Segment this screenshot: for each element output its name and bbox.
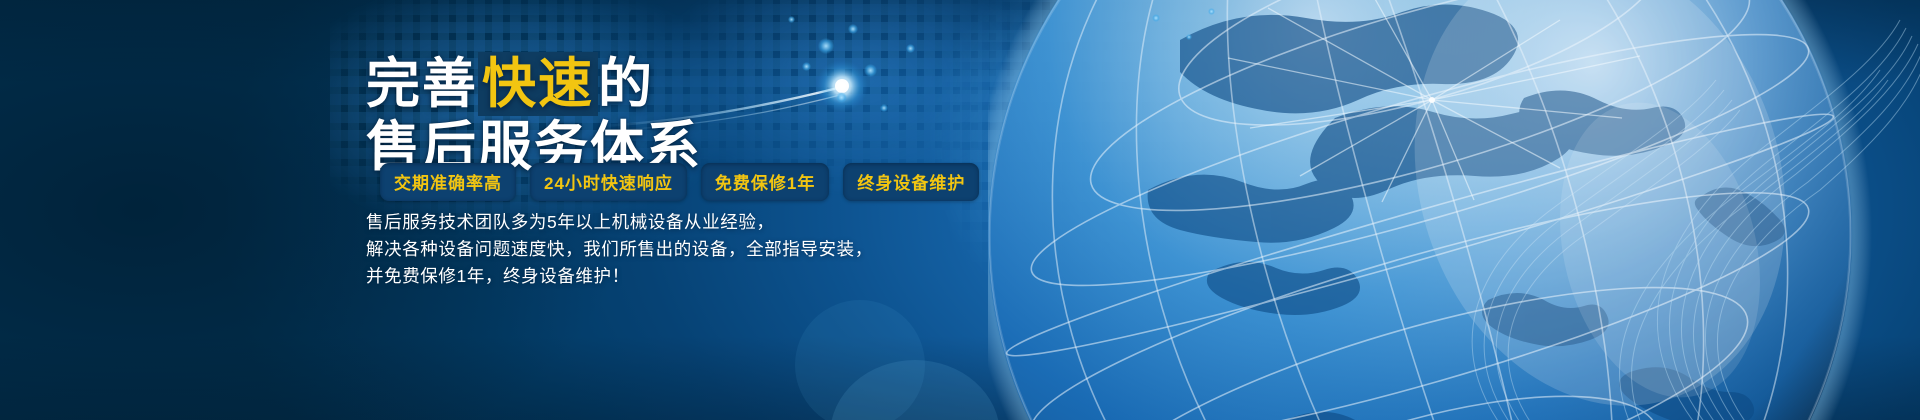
body-copy: 售后服务技术团队多为5年以上机械设备从业经验， 解决各种设备问题速度快，我们所售… [366,209,873,290]
badge-delivery-accuracy[interactable]: 交期准确率高 [380,163,516,201]
body-line-2: 解决各种设备问题速度快，我们所售出的设备，全部指导安装， [366,236,873,263]
headline-prefix: 完善 [366,54,478,114]
headline-highlight: 快速 [478,52,598,116]
headline-suffix: 的 [598,54,654,114]
headline: 完善快速的 售后服务体系 [366,56,702,176]
headline-line-1: 完善快速的 [366,56,702,113]
feature-badge-list: 交期准确率高 24小时快速响应 免费保修1年 终身设备维护 [380,163,979,201]
badge-lifetime-maintenance[interactable]: 终身设备维护 [843,163,979,201]
badge-24h-response[interactable]: 24小时快速响应 [530,163,687,201]
promo-banner: 完善快速的 售后服务体系 交期准确率高 24小时快速响应 免费保修1年 终身设备… [0,0,1920,420]
banner-content: 完善快速的 售后服务体系 交期准确率高 24小时快速响应 免费保修1年 终身设备… [0,0,1000,420]
body-line-1: 售后服务技术团队多为5年以上机械设备从业经验， [366,209,873,236]
badge-free-warranty[interactable]: 免费保修1年 [701,163,829,201]
body-line-3: 并免费保修1年，终身设备维护！ [366,263,873,290]
